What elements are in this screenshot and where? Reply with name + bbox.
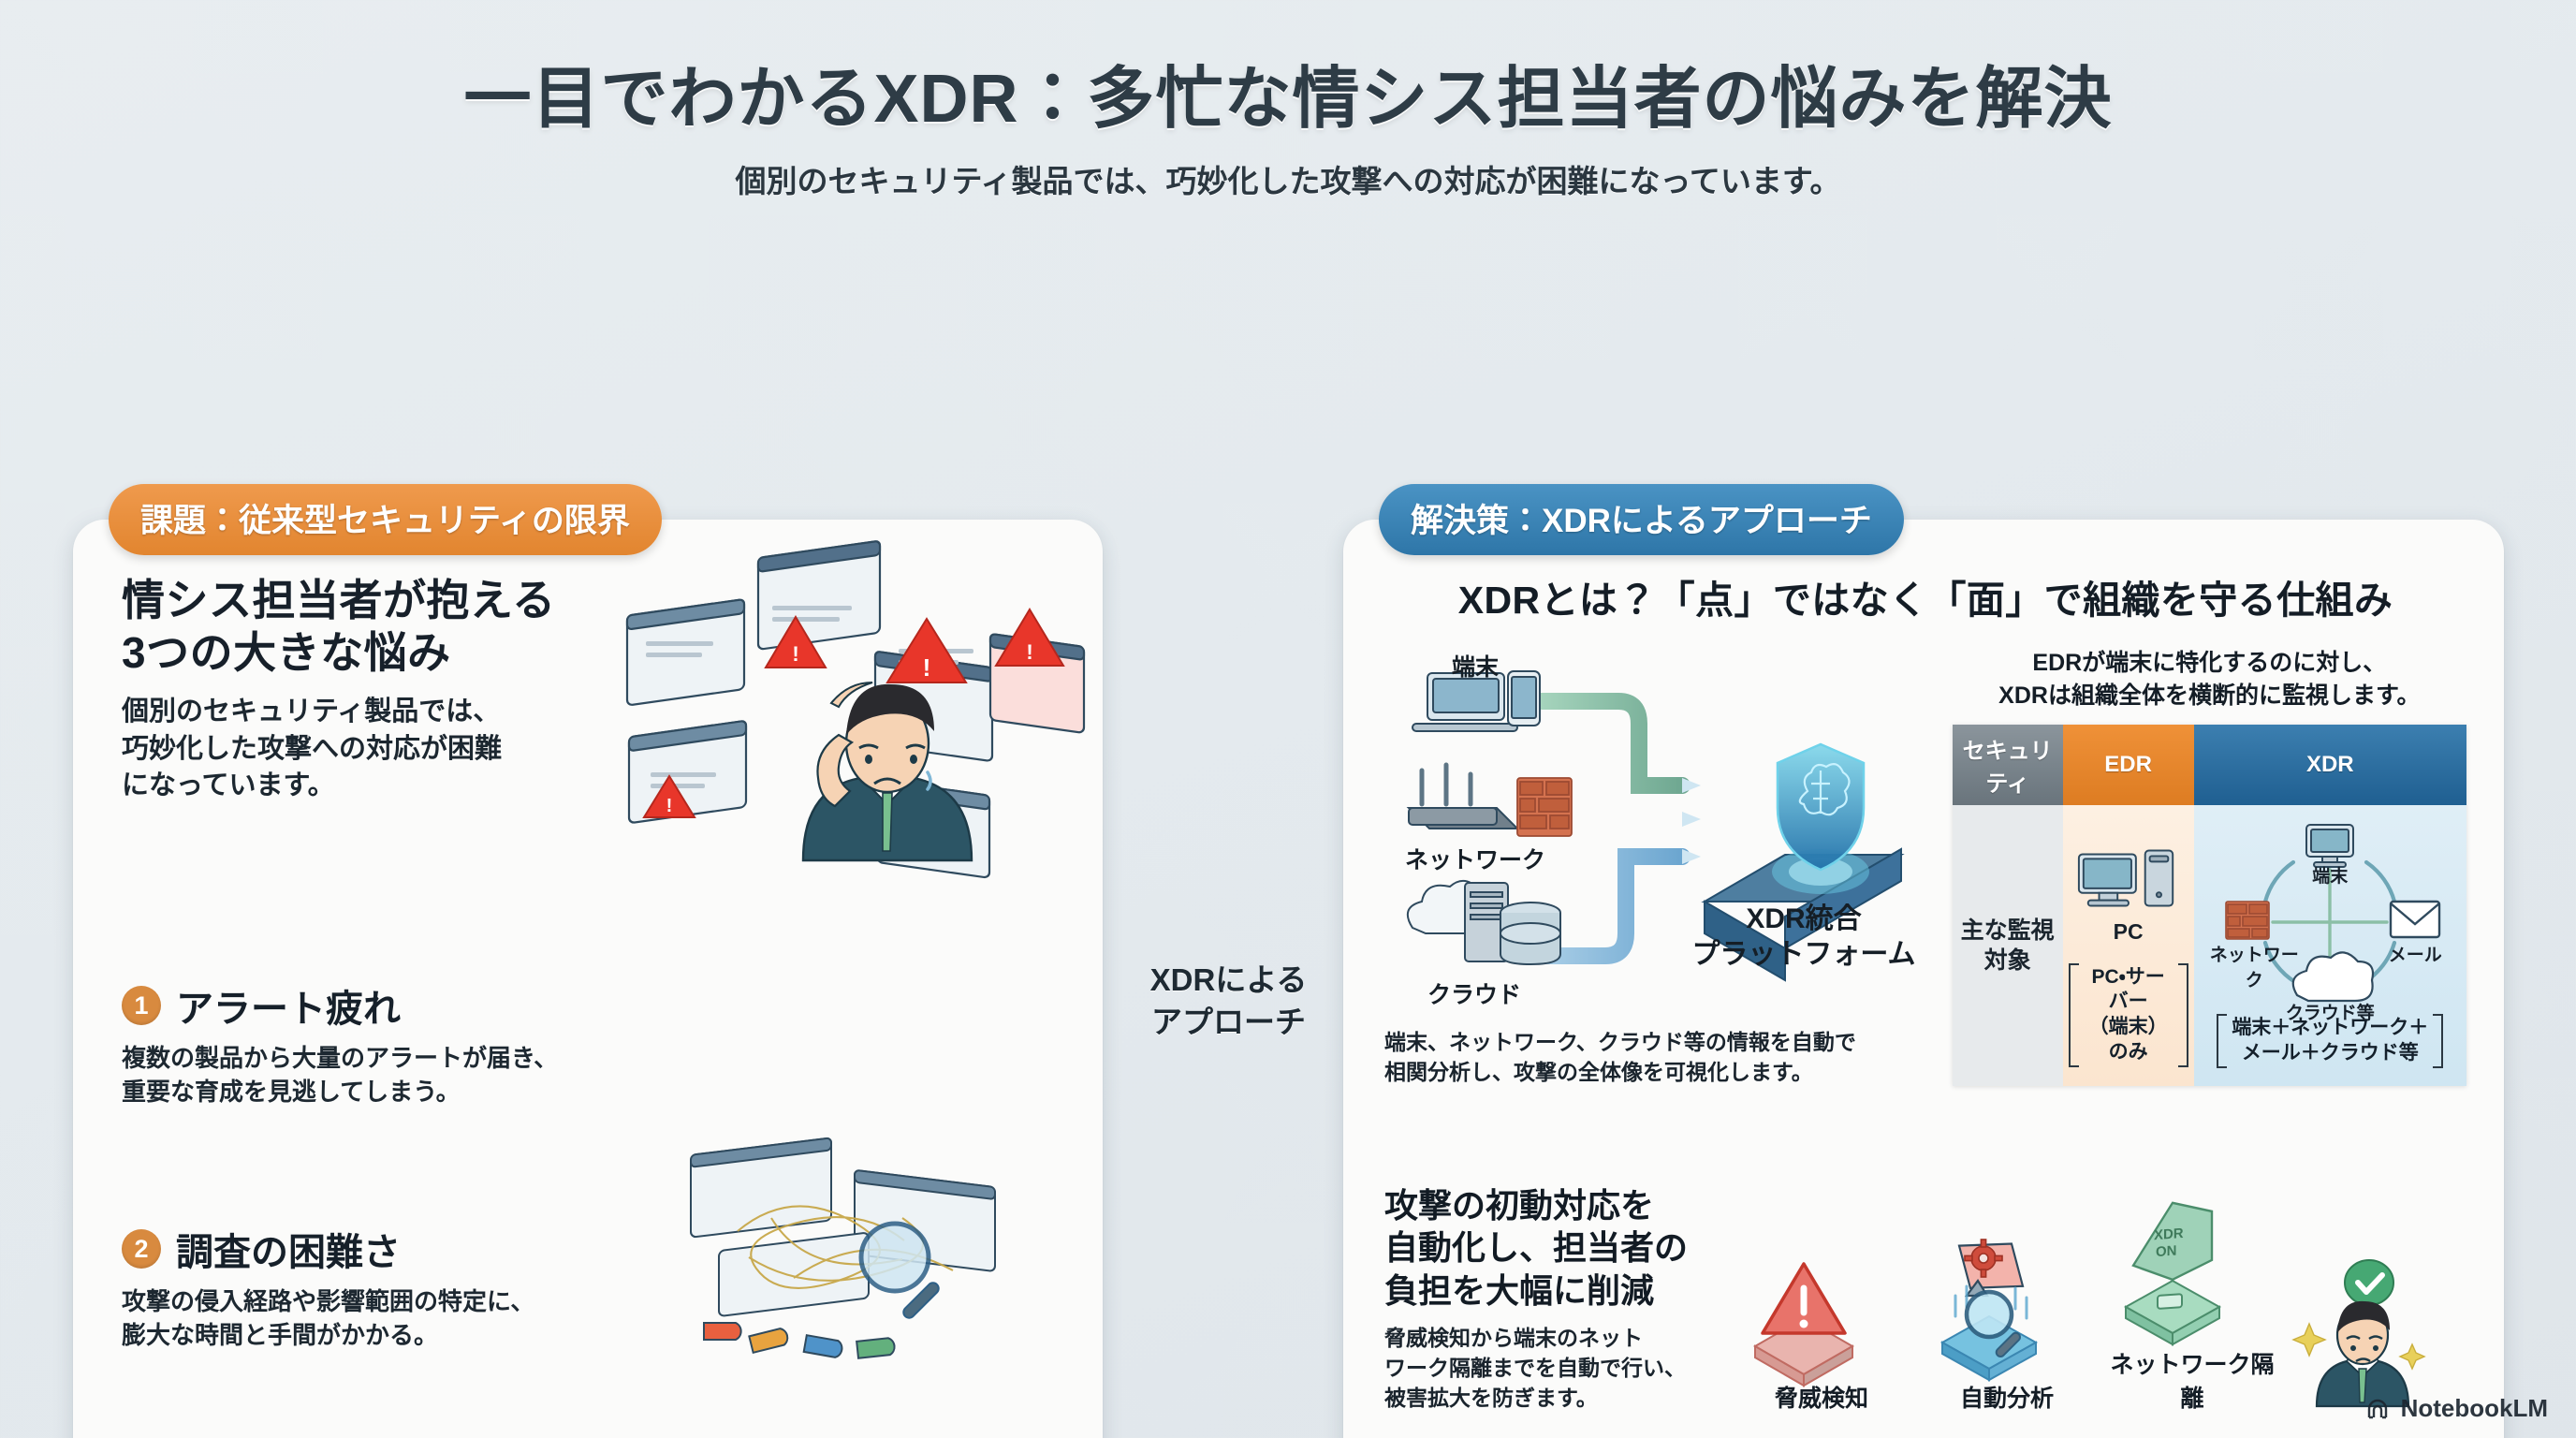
xdr-scope-note: 端末＋ネットワーク＋ メール＋クラウド等 bbox=[2217, 1014, 2443, 1068]
comparison-row-label-cell: 主な監視 対象 bbox=[1953, 805, 2063, 1086]
notebooklm-logo-icon bbox=[2364, 1396, 2391, 1422]
flow-label-platform: XDR統合 プラットフォーム bbox=[1682, 902, 1925, 974]
comparison-body-row: 主な監視 対象 bbox=[1953, 805, 2466, 1086]
notebooklm-label: NotebookLM bbox=[2401, 1394, 2548, 1423]
challenges-panel: 課題：従来型セキュリティの限界 情シス担当者が抱える 3つの大きな悩み 個別のセ… bbox=[73, 520, 1103, 1438]
comparison-caption: EDRが端末に特化するのに対し、 XDRは組織全体を横断的に監視します。 bbox=[1953, 647, 2466, 712]
issue-1-body-line1: 複数の製品から大量のアラートが届き、 bbox=[122, 1042, 721, 1076]
svg-text:!: ! bbox=[666, 796, 673, 816]
magnifier-icon bbox=[1918, 1225, 2058, 1374]
issue-1-number-badge: 1 bbox=[122, 986, 161, 1025]
flow-caption: 端末、ネットワーク、クラウド等の情報を自動で 相関分析し、攻撃の全体像を可視化し… bbox=[1384, 1027, 1936, 1087]
flow-platform-line2: プラットフォーム bbox=[1682, 937, 1925, 973]
comparison-caption-line1: EDRが端末に特化するのに対し、 bbox=[1953, 647, 2466, 680]
svg-text:!: ! bbox=[923, 653, 931, 682]
issue-2-number-badge: 2 bbox=[122, 1229, 161, 1269]
challenges-panel-body: 情シス担当者が抱える 3つの大きな悩み 個別のセキュリティ製品では、 巧妙化した… bbox=[73, 520, 1103, 1438]
tangled-investigation-puzzle-illustration bbox=[681, 1137, 1075, 1390]
xdr-flow-column: 端末 ネットワーク クラウド XDR統合 プラットフォーム 端末、ネットワーク、… bbox=[1384, 647, 1936, 1087]
comparison-header-edr: EDR bbox=[2063, 725, 2194, 805]
page-header: 一目でわかるXDR：多忙な情シス担当者の悩みを解決 個別のセキュリティ製品では、… bbox=[0, 0, 2576, 211]
connector-line1: XDRによる bbox=[1119, 960, 1339, 1002]
solution-upper-grid: 端末 ネットワーク クラウド XDR統合 プラットフォーム 端末、ネットワーク、… bbox=[1384, 647, 2466, 1087]
issue-1-title: アラート疲れ bbox=[176, 978, 401, 1033]
edr-scope-icon-group: PC bbox=[2073, 843, 2184, 945]
xdr-ring-label-mail: メール bbox=[2383, 941, 2447, 966]
page-title: 一目でわかるXDR：多忙な情シス担当者の悩みを解決 bbox=[0, 43, 2576, 141]
flow-label-cloud: クラウド bbox=[1427, 976, 1521, 1010]
automation-heading-line1: 攻撃の初動対応を bbox=[1384, 1184, 1721, 1226]
automation-body-line3: 被害拡大を防ぎます。 bbox=[1384, 1383, 1721, 1413]
automation-heading-line2: 自動化し、担当者の bbox=[1384, 1226, 1721, 1269]
xdr-ring-label-network: ネットワーク bbox=[2209, 941, 2299, 991]
notebooklm-watermark: NotebookLM bbox=[2364, 1394, 2548, 1423]
automation-body-line1: 脅威検知から端末のネット bbox=[1384, 1323, 1721, 1353]
solution-heading: XDRとは？「点」ではなく「面」で組織を守る仕組み bbox=[1384, 568, 2466, 624]
automation-step-threat-detection: 脅威検知 bbox=[1733, 1253, 1910, 1414]
automation-section: 攻撃の初動対応を 自動化し、担当者の 負担を大幅に削減 脅威検知から端末のネット… bbox=[1384, 1175, 2470, 1414]
automation-step-relieved-person bbox=[2289, 1258, 2466, 1414]
flow-caption-line2: 相関分析し、攻撃の全体像を可視化します。 bbox=[1384, 1057, 1936, 1087]
edr-note-line1: PC・サーバー bbox=[2084, 965, 2173, 1016]
comparison-header-xdr: XDR bbox=[2194, 725, 2466, 805]
automation-heading: 攻撃の初動対応を 自動化し、担当者の 負担を大幅に削減 bbox=[1384, 1184, 1721, 1312]
issue-1-body-line2: 重要な育成を見逃してしまう。 bbox=[122, 1076, 721, 1109]
svg-text:ON: ON bbox=[2156, 1242, 2176, 1260]
automation-step-network-isolation: XDRON ネットワーク隔離 bbox=[2103, 1200, 2281, 1414]
comparison-header-security: セキュリティ bbox=[1953, 725, 2063, 805]
issue-2-body-line1: 攻撃の侵入経路や影響範囲の特定に、 bbox=[122, 1285, 721, 1319]
issue-1-title-row: 1 アラート疲れ bbox=[122, 978, 721, 1033]
xdr-scope-ring-diagram: 端末 ネットワーク メール クラウド等 bbox=[2213, 821, 2447, 1014]
edr-note-line2: （端末）のみ bbox=[2084, 1015, 2173, 1065]
flow-caption-line1: 端末、ネットワーク、クラウド等の情報を自動で bbox=[1384, 1027, 1936, 1057]
infographic-board: 課題：従来型セキュリティの限界 情シス担当者が抱える 3つの大きな悩み 個別のセ… bbox=[0, 211, 2576, 1438]
stressed-it-person-alerts-illustration: ! ! ! ! bbox=[618, 551, 1086, 860]
automation-step-3-label: ネットワーク隔離 bbox=[2103, 1346, 2281, 1414]
page-subtitle: 個別のセキュリティ製品では、巧妙化した攻撃への対応が困難になっています。 bbox=[0, 156, 2576, 201]
issue-item-2: 2 調査の困難さ 攻撃の侵入経路や影響範囲の特定に、 膨大な時間と手間がかかる。 bbox=[122, 1222, 721, 1353]
solution-panel-body: XDRとは？「点」ではなく「面」で組織を守る仕組み bbox=[1343, 520, 2504, 1438]
comparison-xdr-cell: 端末 ネットワーク メール クラウド等 端末＋ネットワーク＋ メール＋クラウド等 bbox=[2194, 805, 2466, 1086]
laptop-shield-icon: XDRON bbox=[2103, 1200, 2244, 1341]
edr-xdr-comparison-table: セキュリティ EDR XDR 主な監視 対象 bbox=[1953, 725, 2466, 1086]
xdr-note-line2: メール＋クラウド等 bbox=[2232, 1041, 2428, 1066]
svg-text:!: ! bbox=[792, 642, 798, 666]
edr-scope-note: PC・サーバー （端末）のみ bbox=[2069, 963, 2188, 1068]
flow-platform-line1: XDR統合 bbox=[1682, 902, 1925, 937]
edr-icon-label: PC bbox=[2073, 919, 2184, 945]
svg-text:XDR: XDR bbox=[2154, 1225, 2184, 1243]
issue-2-title-row: 2 調査の困難さ bbox=[122, 1222, 721, 1276]
issue-1-body: 複数の製品から大量のアラートが届き、 重要な育成を見逃してしまう。 bbox=[122, 1042, 721, 1109]
xdr-note-line1: 端末＋ネットワーク＋ bbox=[2232, 1016, 2428, 1041]
xdr-ring-label-endpoint: 端末 bbox=[2303, 862, 2357, 888]
warning-triangle-icon bbox=[1733, 1253, 1873, 1374]
automation-text-block: 攻撃の初動対応を 自動化し、担当者の 負担を大幅に削減 脅威検知から端末のネット… bbox=[1384, 1175, 1721, 1414]
automation-body-line2: ワーク隔離までを自動で行い、 bbox=[1384, 1353, 1721, 1383]
automation-step-1-label: 脅威検知 bbox=[1733, 1380, 1910, 1414]
issue-2-body-line2: 膨大な時間と手間がかかる。 bbox=[122, 1319, 721, 1353]
automation-body: 脅威検知から端末のネット ワーク隔離までを自動で行い、 被害拡大を防ぎます。 bbox=[1384, 1323, 1721, 1414]
flow-label-network: ネットワーク bbox=[1405, 842, 1545, 875]
comparison-caption-line2: XDRは組織全体を横断的に監視します。 bbox=[1953, 680, 2466, 712]
connector-line2: アプローチ bbox=[1119, 1002, 1339, 1044]
automation-heading-line3: 負担を大幅に削減 bbox=[1384, 1269, 1721, 1312]
comparison-column: EDRが端末に特化するのに対し、 XDRは組織全体を横断的に監視します。 セキュ… bbox=[1953, 647, 2466, 1087]
relieved-person-check-icon bbox=[2289, 1258, 2429, 1408]
comparison-header-row: セキュリティ EDR XDR bbox=[1953, 725, 2466, 805]
solution-panel: 解決策：XDRによるアプローチ XDRとは？「点」ではなく「面」で組織を守る仕組… bbox=[1343, 520, 2504, 1438]
comparison-edr-cell: PC PC・サーバー （端末）のみ bbox=[2063, 805, 2194, 1086]
comparison-row-label-line2: 対象 bbox=[1953, 946, 2063, 976]
issue-2-body: 攻撃の侵入経路や影響範囲の特定に、 膨大な時間と手間がかかる。 bbox=[122, 1285, 721, 1353]
comparison-row-label-line1: 主な監視 bbox=[1953, 916, 2063, 946]
connector-label: XDRによる アプローチ bbox=[1119, 960, 1339, 1043]
svg-text:!: ! bbox=[1026, 640, 1032, 664]
automation-steps: 脅威検知 bbox=[1729, 1175, 2470, 1414]
xdr-flow-diagram: 端末 ネットワーク クラウド XDR統合 プラットフォーム bbox=[1384, 647, 1936, 1021]
issue-2-title: 調査の困難さ bbox=[176, 1222, 401, 1276]
automation-step-auto-analysis: 自動分析 bbox=[1918, 1225, 2096, 1414]
automation-step-2-label: 自動分析 bbox=[1918, 1380, 2096, 1414]
issue-item-1: 1 アラート疲れ 複数の製品から大量のアラートが届き、 重要な育成を見逃してしま… bbox=[122, 978, 721, 1109]
flow-label-endpoint: 端末 bbox=[1452, 649, 1499, 682]
